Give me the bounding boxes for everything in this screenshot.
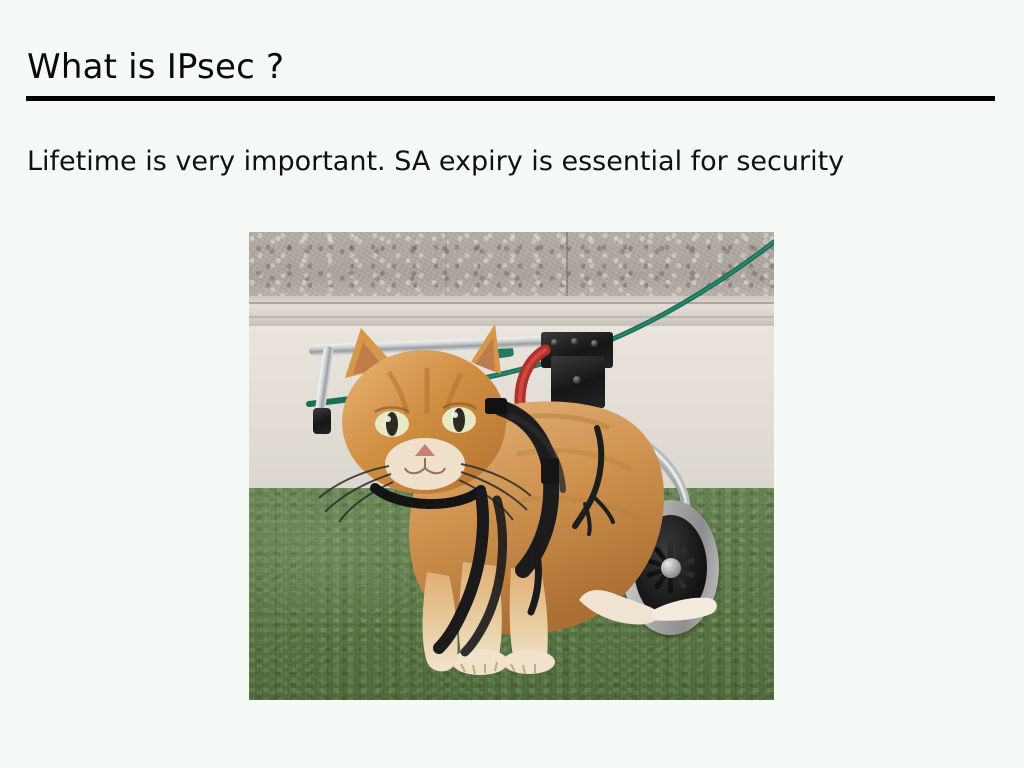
page-title: What is IPsec ?: [27, 47, 284, 87]
turf-worn-patch: [249, 488, 489, 638]
curb-line: [249, 316, 774, 318]
cart-mount-plate: [551, 356, 605, 408]
concrete-wall: [249, 232, 774, 296]
slide-photo: [249, 232, 774, 700]
cart-wheel: [622, 500, 719, 635]
cart-tube-end-cap-left: [313, 408, 331, 434]
slide-canvas: What is IPsec ? Lifetime is very importa…: [0, 0, 1024, 768]
bolt-icon: [571, 338, 578, 345]
bolt-icon: [591, 340, 598, 347]
wall-seam-icon: [445, 232, 447, 296]
wheel-hub-disc: [634, 515, 707, 620]
bolt-icon: [551, 339, 558, 346]
wall-seam-icon: [566, 232, 568, 296]
wheel-axle-nut: [661, 558, 681, 578]
slide-body-text: Lifetime is very important. SA expiry is…: [27, 145, 844, 179]
curb-line: [249, 302, 774, 304]
concrete-curb: [249, 296, 774, 326]
bolt-icon: [573, 376, 581, 384]
title-divider: [26, 96, 995, 101]
